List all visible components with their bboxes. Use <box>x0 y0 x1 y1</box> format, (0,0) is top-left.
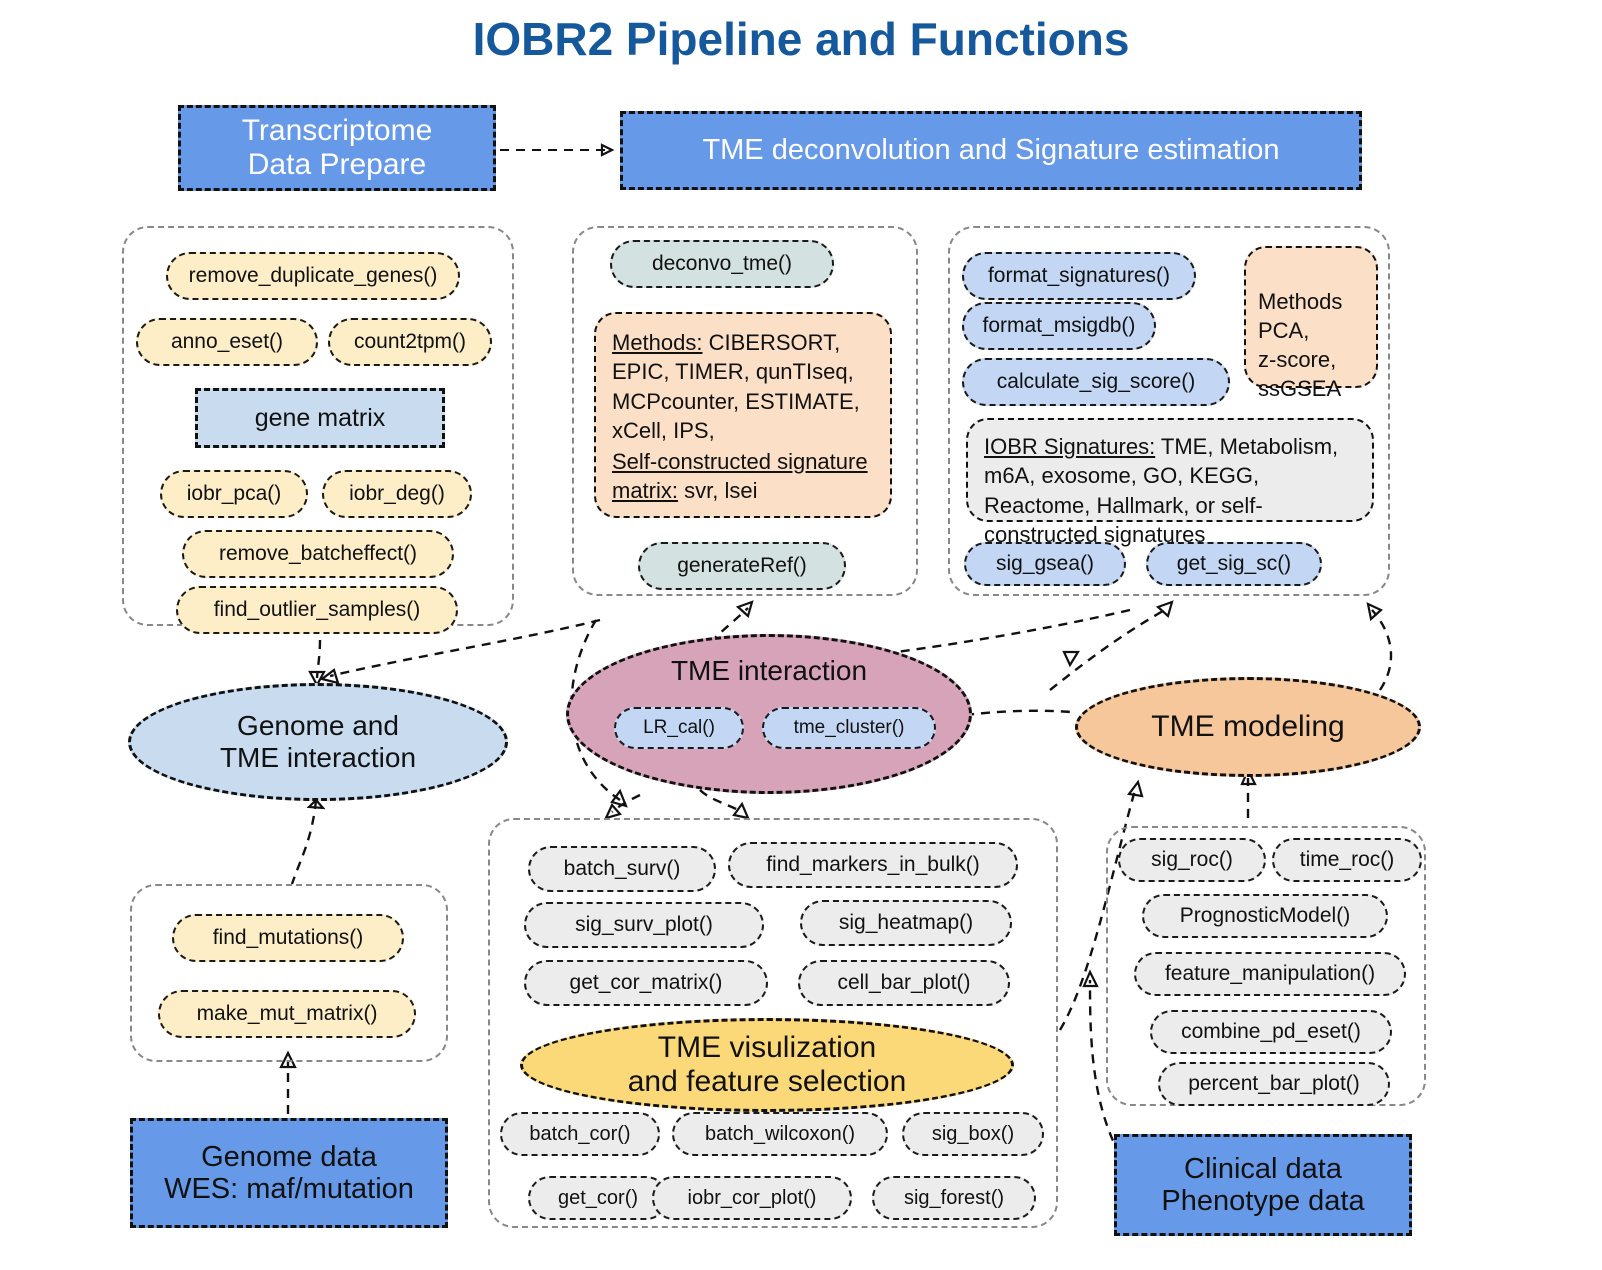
methods-line: Methods: CIBERSORT, EPIC, TIMER, qunTIse… <box>612 328 874 445</box>
gene-matrix-label: gene matrix <box>255 404 386 433</box>
fn-format-signatures[interactable]: format_signatures() <box>962 252 1196 300</box>
fn-sig-heatmap[interactable]: sig_heatmap() <box>800 900 1012 946</box>
fn-label: batch_cor() <box>529 1123 630 1145</box>
transcriptome-data-prepare-box[interactable]: Transcriptome Data Prepare <box>178 105 496 191</box>
transcriptome-label: Transcriptome Data Prepare <box>242 114 433 181</box>
fn-label: sig_roc() <box>1151 848 1233 871</box>
iobr-signatures-label: IOBR Signatures: <box>984 434 1155 459</box>
fn-sig-roc[interactable]: sig_roc() <box>1118 838 1266 882</box>
fn-label: sig_box() <box>932 1123 1014 1145</box>
fn-format-msigdb[interactable]: format_msigdb() <box>962 302 1156 350</box>
fn-find-markers-in-bulk[interactable]: find_markers_in_bulk() <box>728 842 1018 888</box>
ellipse-tme-visulization[interactable]: TME visulization and feature selection <box>520 1018 1014 1112</box>
fn-anno-eset[interactable]: anno_eset() <box>136 318 318 366</box>
fn-get-cor-matrix[interactable]: get_cor_matrix() <box>524 960 768 1006</box>
methods-label: Methods: <box>612 330 703 355</box>
fn-sig-box[interactable]: sig_box() <box>902 1112 1044 1156</box>
fn-iobr-cor-plot[interactable]: iobr_cor_plot() <box>652 1176 852 1220</box>
fn-label: get_sig_sc() <box>1177 552 1291 575</box>
fn-label: tme_cluster() <box>794 718 905 739</box>
fn-batch-wilcoxon[interactable]: batch_wilcoxon() <box>672 1112 888 1156</box>
fn-label: make_mut_matrix() <box>197 1002 378 1025</box>
fn-sig-gsea[interactable]: sig_gsea() <box>964 542 1126 586</box>
fn-label: get_cor() <box>558 1187 638 1209</box>
fn-batch-cor[interactable]: batch_cor() <box>500 1112 660 1156</box>
fn-iobr-deg[interactable]: iobr_deg() <box>322 470 472 518</box>
fn-label: percent_bar_plot() <box>1188 1072 1360 1095</box>
fn-label: find_mutations() <box>213 926 364 949</box>
ellipse-tme-modeling[interactable]: TME modeling <box>1075 677 1421 777</box>
fn-label: remove_batcheffect() <box>219 542 417 565</box>
fn-label: calculate_sig_score() <box>997 370 1195 393</box>
fn-label: format_signatures() <box>988 264 1170 287</box>
fn-label: iobr_cor_plot() <box>688 1187 817 1209</box>
fn-cell-bar-plot[interactable]: cell_bar_plot() <box>798 960 1010 1006</box>
page-title: IOBR2 Pipeline and Functions <box>0 12 1602 66</box>
fn-combine-pd-eset[interactable]: combine_pd_eset() <box>1150 1010 1392 1054</box>
methods-note-label: Methods PCA, z-score, ssGSEA <box>1258 289 1342 401</box>
fn-label: batch_surv() <box>564 857 681 880</box>
fn-deconvo-tme[interactable]: deconvo_tme() <box>610 240 834 288</box>
fn-label: sig_gsea() <box>996 552 1094 575</box>
fn-label: find_markers_in_bulk() <box>766 853 980 876</box>
fn-sig-surv-plot[interactable]: sig_surv_plot() <box>524 902 764 948</box>
fn-label: find_outlier_samples() <box>214 598 421 621</box>
ellipse-label: Genome and TME interaction <box>131 710 505 774</box>
fn-lr-cal[interactable]: LR_cal() <box>614 707 744 749</box>
deconvolution-methods-note: Methods: CIBERSORT, EPIC, TIMER, qunTIse… <box>594 312 892 518</box>
fn-label: combine_pd_eset() <box>1181 1020 1361 1043</box>
fn-label: LR_cal() <box>643 718 715 739</box>
fn-label: batch_wilcoxon() <box>705 1123 855 1145</box>
ellipse-label: TME visulization and feature selection <box>523 1031 1011 1100</box>
fn-feature-manipulation[interactable]: feature_manipulation() <box>1134 952 1406 996</box>
fn-label: iobr_pca() <box>187 482 282 505</box>
fn-label: iobr_deg() <box>349 482 445 505</box>
diagram-canvas: IOBR2 Pipeline and Functions <box>0 0 1602 1270</box>
fn-label: get_cor_matrix() <box>570 971 723 994</box>
clinical-data-box[interactable]: Clinical data Phenotype data <box>1114 1134 1412 1236</box>
fn-iobr-pca[interactable]: iobr_pca() <box>160 470 308 518</box>
fn-generate-ref[interactable]: generateRef() <box>638 542 846 590</box>
ellipse-label: TME interaction <box>569 655 969 687</box>
fn-make-mut-matrix[interactable]: make_mut_matrix() <box>158 990 416 1038</box>
fn-label: feature_manipulation() <box>1165 962 1375 985</box>
fn-label: cell_bar_plot() <box>837 971 970 994</box>
fn-label: sig_heatmap() <box>839 911 973 934</box>
fn-percent-bar-plot[interactable]: percent_bar_plot() <box>1158 1062 1390 1106</box>
self-constructed-list: svr, lsei <box>678 478 757 503</box>
ellipse-label: TME modeling <box>1078 710 1418 745</box>
fn-count2tpm[interactable]: count2tpm() <box>328 318 492 366</box>
fn-label: sig_forest() <box>904 1187 1004 1209</box>
fn-label: generateRef() <box>677 554 807 577</box>
fn-batch-surv[interactable]: batch_surv() <box>528 846 716 892</box>
genome-data-box[interactable]: Genome data WES: maf/mutation <box>130 1118 448 1228</box>
fn-label: sig_surv_plot() <box>575 913 713 936</box>
fn-label: deconvo_tme() <box>652 252 792 275</box>
fn-get-cor[interactable]: get_cor() <box>528 1176 668 1220</box>
fn-label: remove_duplicate_genes() <box>189 264 438 287</box>
iobr-signatures-note: IOBR Signatures: TME, Metabolism, m6A, e… <box>966 418 1374 522</box>
fn-find-mutations[interactable]: find_mutations() <box>172 914 404 962</box>
tme-deconvolution-box[interactable]: TME deconvolution and Signature estimati… <box>620 111 1362 190</box>
fn-find-outlier-samples[interactable]: find_outlier_samples() <box>176 586 458 634</box>
fn-remove-batcheffect[interactable]: remove_batcheffect() <box>182 530 454 578</box>
fn-tme-cluster[interactable]: tme_cluster() <box>762 707 936 749</box>
fn-label: PrognosticModel() <box>1180 904 1350 927</box>
signature-methods-note: Methods PCA, z-score, ssGSEA <box>1244 246 1378 388</box>
genome-data-label: Genome data WES: maf/mutation <box>164 1141 414 1206</box>
clinical-data-label: Clinical data Phenotype data <box>1161 1153 1364 1218</box>
fn-label: time_roc() <box>1300 848 1395 871</box>
self-constructed-line: Self-constructed signature matrix: svr, … <box>612 447 874 506</box>
fn-label: anno_eset() <box>171 330 283 353</box>
fn-label: format_msigdb() <box>983 314 1136 337</box>
fn-calculate-sig-score[interactable]: calculate_sig_score() <box>962 358 1230 406</box>
fn-prognostic-model[interactable]: PrognosticModel() <box>1142 894 1388 938</box>
gene-matrix-box: gene matrix <box>195 388 445 448</box>
fn-time-roc[interactable]: time_roc() <box>1272 838 1422 882</box>
fn-sig-forest[interactable]: sig_forest() <box>872 1176 1036 1220</box>
fn-get-sig-sc[interactable]: get_sig_sc() <box>1146 542 1322 586</box>
fn-remove-duplicate-genes[interactable]: remove_duplicate_genes() <box>166 252 460 300</box>
tme-deconvolution-label: TME deconvolution and Signature estimati… <box>702 134 1279 166</box>
ellipse-genome-and-tme-interaction[interactable]: Genome and TME interaction <box>128 683 508 801</box>
fn-label: count2tpm() <box>354 330 466 353</box>
